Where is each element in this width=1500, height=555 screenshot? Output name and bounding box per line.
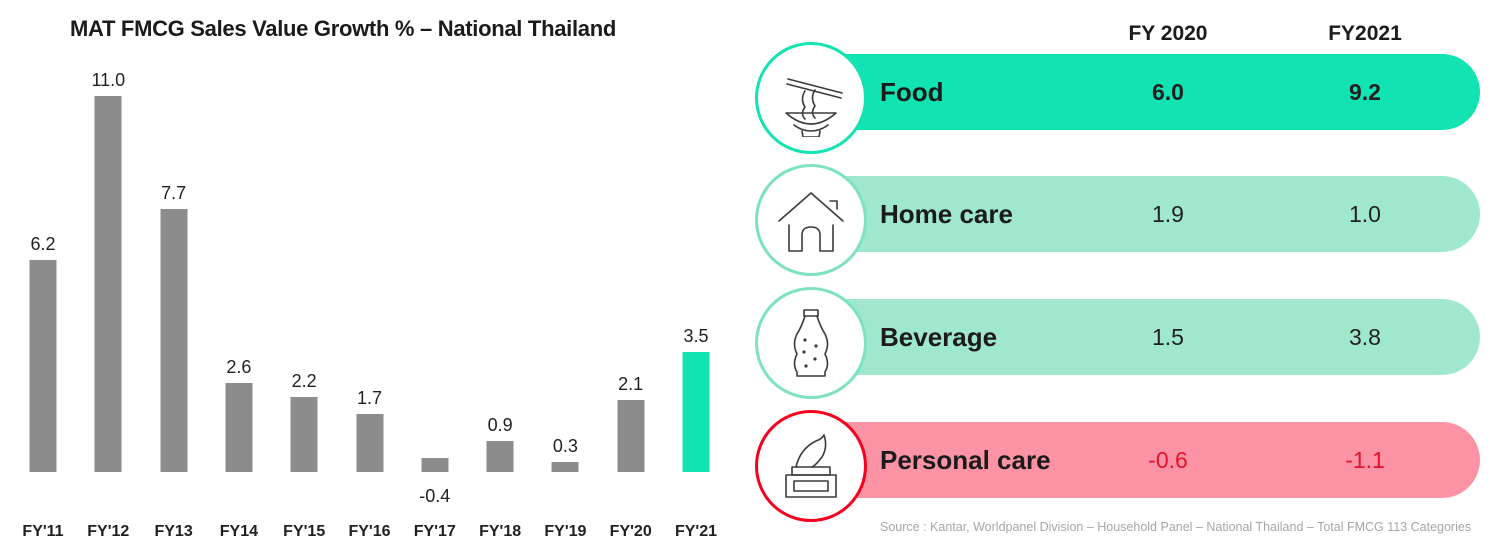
x-axis-label: FY14 bbox=[220, 523, 258, 541]
house-icon bbox=[755, 164, 867, 276]
bar-value-label: -0.4 bbox=[419, 486, 450, 507]
bar-group: 3.5FY'21 bbox=[663, 0, 729, 555]
category-value-fy2020: 1.5 bbox=[1108, 299, 1228, 375]
bar bbox=[225, 383, 252, 472]
category-row: Home care1.91.0 bbox=[760, 164, 1500, 264]
bar-value-label: 2.1 bbox=[618, 374, 643, 395]
category-name: Personal care bbox=[880, 422, 1051, 498]
bar-value-label: 0.9 bbox=[488, 415, 513, 436]
bar-group: 6.2FY'11 bbox=[10, 0, 76, 555]
category-value-fy2020: -0.6 bbox=[1108, 422, 1228, 498]
category-row: Personal care-0.6-1.1 bbox=[760, 410, 1500, 510]
category-value-fy2020: 6.0 bbox=[1108, 54, 1228, 130]
category-table-panel: FY 2020 FY2021 Food6.09.2Home care1.91.0… bbox=[760, 0, 1500, 555]
noodle-bowl-icon bbox=[755, 42, 867, 154]
bar bbox=[95, 96, 122, 472]
bar-group: 11.0FY'12 bbox=[75, 0, 141, 555]
bar bbox=[291, 397, 318, 472]
bar-group: 1.7FY'16 bbox=[337, 0, 403, 555]
category-value-fy2021: -1.1 bbox=[1305, 422, 1425, 498]
bar-group: 7.7FY13 bbox=[141, 0, 207, 555]
bar-group: 2.2FY'15 bbox=[271, 0, 337, 555]
source-note: Source : Kantar, Worldpanel Division – H… bbox=[880, 520, 1471, 534]
x-axis-label: FY'16 bbox=[348, 523, 390, 541]
category-row: Food6.09.2 bbox=[760, 42, 1500, 142]
bar-group: 0.3FY'19 bbox=[532, 0, 598, 555]
bar-value-label: 11.0 bbox=[91, 70, 125, 91]
x-axis-label: FY'11 bbox=[22, 523, 63, 541]
bar-value-label: 2.6 bbox=[226, 357, 251, 378]
x-axis-label: FY'21 bbox=[675, 523, 717, 541]
bar-value-label: 7.7 bbox=[161, 183, 186, 204]
bar bbox=[356, 414, 383, 472]
bar-value-label: 6.2 bbox=[30, 234, 55, 255]
bar bbox=[30, 260, 57, 472]
category-value-fy2021: 1.0 bbox=[1305, 176, 1425, 252]
x-axis-label: FY'15 bbox=[283, 523, 325, 541]
x-axis-label: FY'17 bbox=[414, 523, 456, 541]
bar bbox=[487, 441, 514, 472]
x-axis-label: FY'20 bbox=[610, 523, 652, 541]
bar-chart-plot-area: 6.2FY'1111.0FY'127.7FY132.6FY142.2FY'151… bbox=[0, 0, 760, 555]
bar-chart-panel: MAT FMCG Sales Value Growth % – National… bbox=[0, 0, 760, 555]
bar-group: 0.9FY'18 bbox=[467, 0, 533, 555]
bar-value-label: 0.3 bbox=[553, 436, 578, 457]
bar-group: -0.4FY'17 bbox=[402, 0, 468, 555]
bar-value-label: 1.7 bbox=[357, 388, 382, 409]
category-value-fy2021: 3.8 bbox=[1305, 299, 1425, 375]
category-name: Beverage bbox=[880, 299, 997, 375]
bar-group: 2.6FY14 bbox=[206, 0, 272, 555]
category-value-fy2020: 1.9 bbox=[1108, 176, 1228, 252]
bar bbox=[160, 209, 187, 472]
bar bbox=[683, 352, 710, 472]
bar bbox=[421, 458, 448, 472]
bar-value-label: 2.2 bbox=[292, 371, 317, 392]
bar-value-label: 3.5 bbox=[683, 326, 708, 347]
soda-bottle-icon bbox=[755, 287, 867, 399]
cream-jar-icon bbox=[755, 410, 867, 522]
bar-group: 2.1FY'20 bbox=[598, 0, 664, 555]
x-axis-label: FY'12 bbox=[87, 523, 129, 541]
x-axis-label: FY'18 bbox=[479, 523, 521, 541]
category-row: Beverage1.53.8 bbox=[760, 287, 1500, 387]
bar bbox=[617, 400, 644, 472]
x-axis-label: FY13 bbox=[154, 523, 192, 541]
x-axis-label: FY'19 bbox=[544, 523, 586, 541]
category-value-fy2021: 9.2 bbox=[1305, 54, 1425, 130]
category-name: Home care bbox=[880, 176, 1013, 252]
bar bbox=[552, 462, 579, 472]
category-name: Food bbox=[880, 54, 944, 130]
